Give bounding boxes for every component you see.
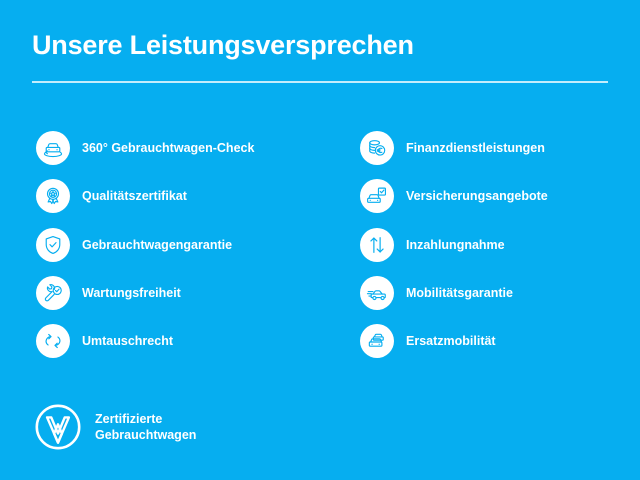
promises-columns: 360° Gebrauchtwagen-Check Qualitätszerti… — [0, 124, 640, 365]
promise-item-360-check: 360° Gebrauchtwagen-Check — [36, 124, 316, 172]
promise-item-financial-services: Finanzdienstleistungen — [360, 124, 640, 172]
volkswagen-logo — [34, 403, 82, 451]
car-motion-icon — [360, 276, 394, 310]
promise-item-mobility-guarantee: Mobilitätsgarantie — [360, 269, 640, 317]
page-title: Unsere Leistungsversprechen — [32, 28, 608, 62]
shield-check-icon — [36, 228, 70, 262]
brand-footer: Zertifizierte Gebrauchtwagen — [34, 403, 196, 451]
promises-poster: Unsere Leistungsversprechen 360° Gebrauc — [0, 0, 640, 480]
exchange-arrows-icon — [36, 324, 70, 358]
brand-text: Zertifizierte Gebrauchtwagen — [95, 411, 196, 443]
promise-item-replacement-mobility: Ersatzmobilität — [360, 317, 640, 365]
promise-item-warranty: Gebrauchtwagengarantie — [36, 221, 316, 269]
promise-item-quality-certificate: Qualitätszertifikat — [36, 172, 316, 220]
promise-label: Umtauschrecht — [82, 333, 173, 349]
promise-label: Inzahlungnahme — [406, 237, 505, 253]
award-rosette-icon — [36, 179, 70, 213]
two-cars-icon — [360, 324, 394, 358]
brand-text-line-1: Zertifizierte — [95, 411, 196, 427]
header: Unsere Leistungsversprechen — [32, 28, 608, 83]
brand-text-line-2: Gebrauchtwagen — [95, 427, 196, 443]
car-360-check-icon — [36, 131, 70, 165]
promises-column-left: 360° Gebrauchtwagen-Check Qualitätszerti… — [0, 124, 316, 365]
promise-item-insurance-offers: Versicherungsangebote — [360, 172, 640, 220]
header-divider — [32, 81, 608, 83]
promise-item-exchange-right: Umtauschrecht — [36, 317, 316, 365]
promise-label: Mobilitätsgarantie — [406, 285, 513, 301]
promise-label: 360° Gebrauchtwagen-Check — [82, 140, 254, 156]
promise-label: Ersatzmobilität — [406, 333, 496, 349]
wrench-check-icon — [36, 276, 70, 310]
promise-label: Versicherungsangebote — [406, 188, 548, 204]
car-document-check-icon — [360, 179, 394, 213]
promises-column-right: Finanzdienstleistungen Versicherungsange… — [316, 124, 640, 365]
coins-euro-icon — [360, 131, 394, 165]
promise-label: Gebrauchtwagengarantie — [82, 237, 232, 253]
promise-label: Wartungsfreiheit — [82, 285, 181, 301]
promise-item-trade-in: Inzahlungnahme — [360, 221, 640, 269]
promise-label: Finanzdienstleistungen — [406, 140, 545, 156]
promise-item-maintenance-free: Wartungsfreiheit — [36, 269, 316, 317]
up-down-arrows-icon — [360, 228, 394, 262]
promise-label: Qualitätszertifikat — [82, 188, 187, 204]
